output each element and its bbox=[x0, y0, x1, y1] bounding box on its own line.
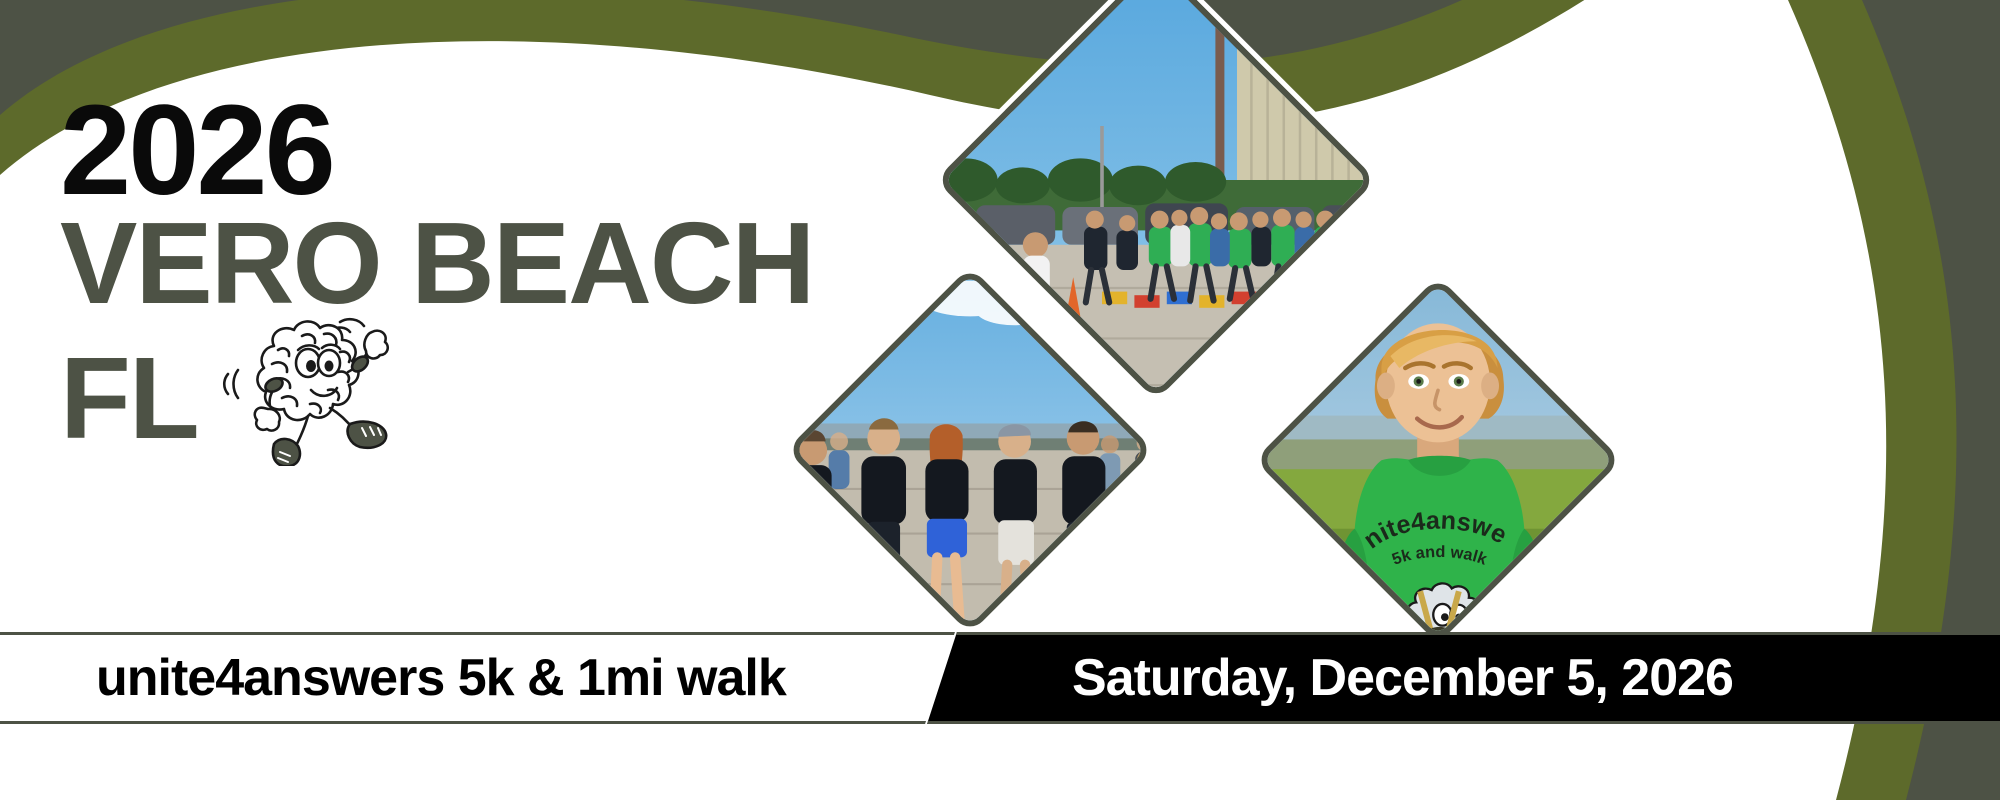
city-heading: VERO BEACH bbox=[60, 212, 813, 314]
event-banner: 2026 VERO BEACH FL bbox=[0, 0, 2000, 800]
running-brain-mascot-icon bbox=[212, 316, 412, 466]
year-heading: 2026 bbox=[60, 96, 813, 206]
state-and-mascot-row: FL bbox=[60, 316, 813, 450]
event-name-label: unite4answers 5k & 1mi walk bbox=[96, 648, 786, 708]
headline-block: 2026 VERO BEACH FL bbox=[60, 96, 813, 450]
event-name-bar: unite4answers 5k & 1mi walk bbox=[0, 632, 880, 724]
state-heading: FL bbox=[60, 346, 198, 450]
event-date-bar: Saturday, December 5, 2026 bbox=[960, 632, 2000, 724]
event-date-label: Saturday, December 5, 2026 bbox=[1072, 648, 1733, 708]
